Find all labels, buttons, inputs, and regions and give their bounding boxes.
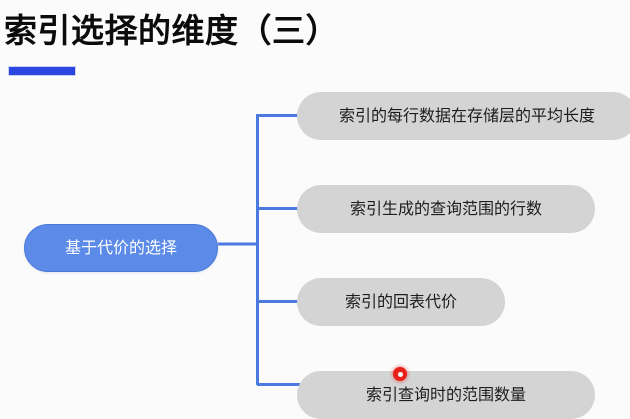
cursor-click-indicator (393, 367, 407, 381)
mindmap-root-node[interactable]: 基于代价的选择 (24, 224, 218, 272)
mindmap-child-node-4-label: 索引查询时的范围数量 (366, 385, 526, 405)
title-block: 索引选择的维度（三） (4, 8, 624, 72)
page-title: 索引选择的维度（三） (4, 8, 339, 54)
mindmap-child-node-4[interactable]: 索引查询时的范围数量 (297, 371, 595, 419)
mindmap-child-node-3[interactable]: 索引的回表代价 (297, 278, 505, 326)
mindmap-child-node-2-label: 索引生成的查询范围的行数 (350, 199, 542, 219)
mindmap-child-node-1[interactable]: 索引的每行数据在存储层的平均长度 (297, 92, 630, 140)
slide-canvas: 索引选择的维度（三） 基于代价的选择 索引的每行数据在存储层的平均长度 索引生成… (0, 0, 630, 419)
cursor-dot-core (398, 372, 403, 377)
mindmap-child-node-1-label: 索引的每行数据在存储层的平均长度 (339, 106, 595, 126)
mindmap: 基于代价的选择 索引的每行数据在存储层的平均长度 索引生成的查询范围的行数 索引… (0, 72, 630, 419)
mindmap-child-node-3-label: 索引的回表代价 (345, 292, 457, 312)
mindmap-root-node-label: 基于代价的选择 (65, 238, 177, 258)
mindmap-child-node-2[interactable]: 索引生成的查询范围的行数 (297, 185, 595, 233)
